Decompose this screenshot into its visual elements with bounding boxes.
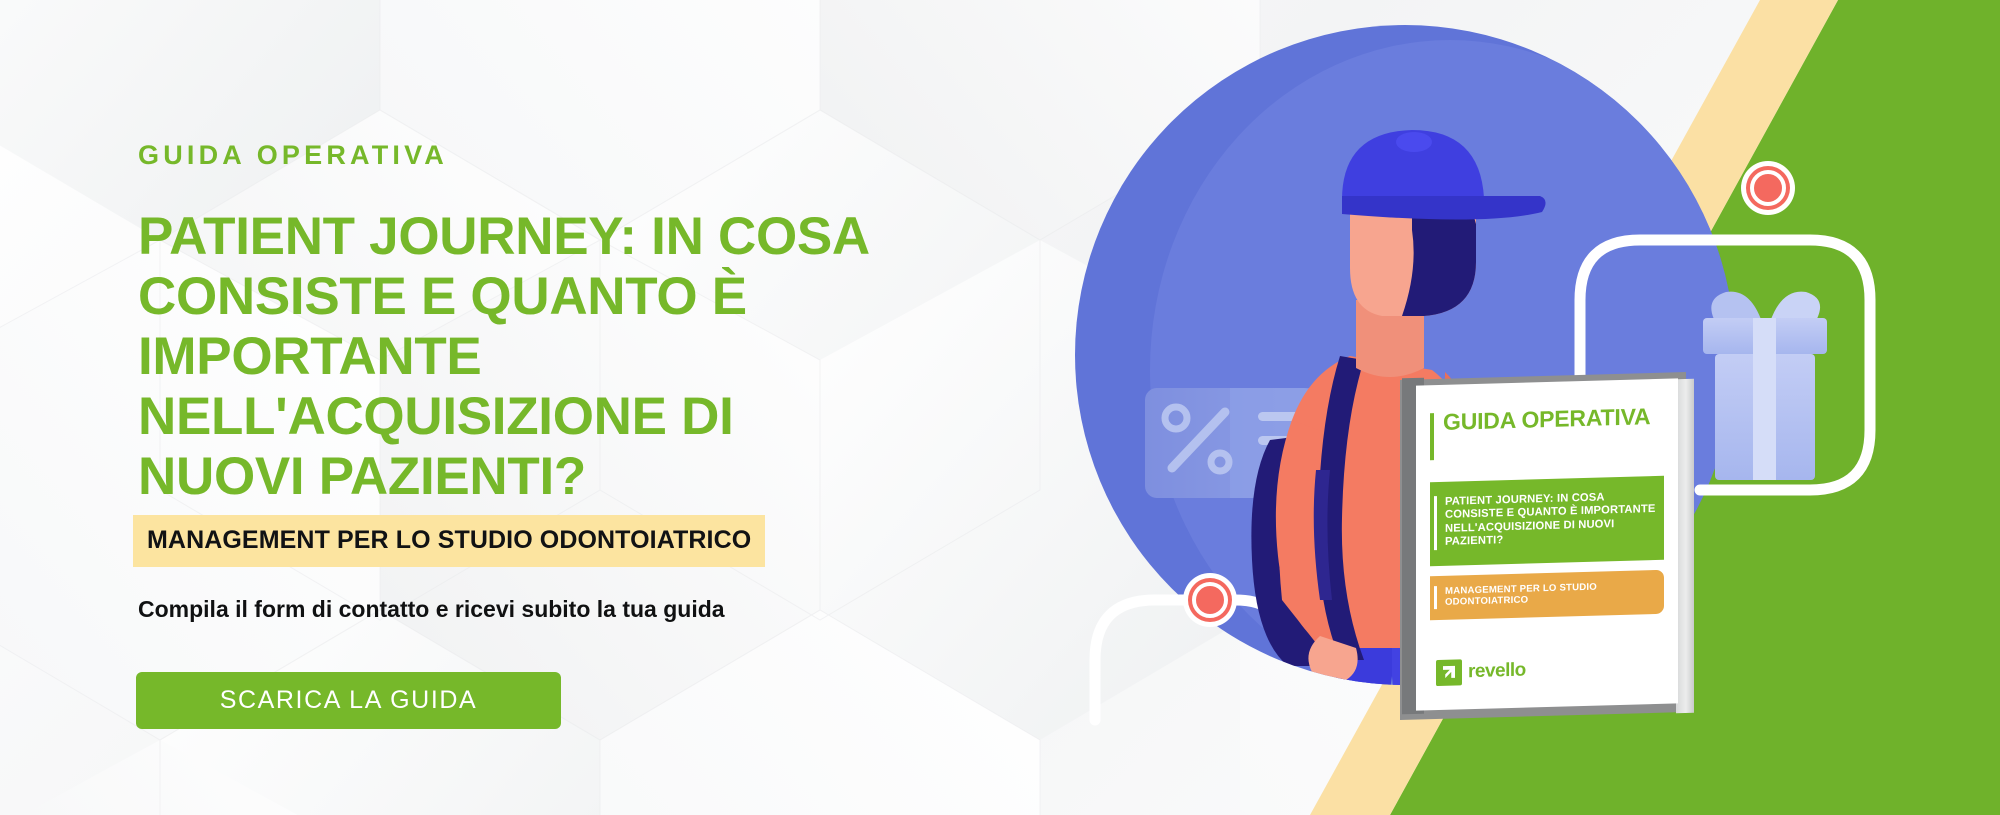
book-green-accent-bar	[1434, 496, 1437, 550]
eyebrow-label: GUIDA OPERATIVA	[138, 140, 448, 171]
subtitle-text: MANAGEMENT PER LO STUDIO ODONTOIATRICO	[147, 526, 751, 554]
lead-text: Compila il form di contatto e ricevi sub…	[138, 596, 725, 623]
revello-logo-text: revello	[1468, 660, 1526, 684]
book-title-block: GUIDA OPERATIVA	[1430, 405, 1664, 461]
revello-logo: revello	[1436, 658, 1526, 687]
route-node-icon	[1183, 573, 1237, 627]
subtitle-highlight: MANAGEMENT PER LO STUDIO ODONTOIATRICO	[133, 515, 765, 567]
gift-box-icon	[1703, 292, 1827, 480]
page-title: PATIENT JOURNEY: IN COSA CONSISTE E QUAN…	[138, 207, 878, 507]
book-title: GUIDA OPERATIVA	[1443, 405, 1650, 434]
promo-banner: GUIDA OPERATIVA PATIENT JOURNEY: IN COSA…	[0, 0, 2000, 815]
arrow-r-icon	[1440, 663, 1458, 682]
guide-book-mockup: GUIDA OPERATIVA PATIENT JOURNEY: IN COSA…	[1406, 382, 1678, 707]
content-column: GUIDA OPERATIVA PATIENT JOURNEY: IN COSA…	[138, 0, 858, 815]
book-orange-panel: MANAGEMENT PER LO STUDIO ODONTOIATRICO	[1430, 569, 1664, 620]
book-title-accent-bar	[1430, 413, 1434, 460]
revello-logo-mark-icon	[1436, 659, 1462, 686]
download-guide-button[interactable]: SCARICA LA GUIDA	[136, 672, 561, 729]
book-green-text: PATIENT JOURNEY: IN COSA CONSISTE E QUAN…	[1445, 490, 1664, 550]
book-page-edge	[1676, 379, 1694, 714]
book-orange-accent-bar	[1434, 586, 1437, 609]
book-orange-text: MANAGEMENT PER LO STUDIO ODONTOIATRICO	[1445, 579, 1664, 608]
book-cover-face: GUIDA OPERATIVA PATIENT JOURNEY: IN COSA…	[1416, 378, 1678, 710]
book-green-panel: PATIENT JOURNEY: IN COSA CONSISTE E QUAN…	[1430, 476, 1664, 566]
route-node-icon	[1741, 161, 1795, 215]
